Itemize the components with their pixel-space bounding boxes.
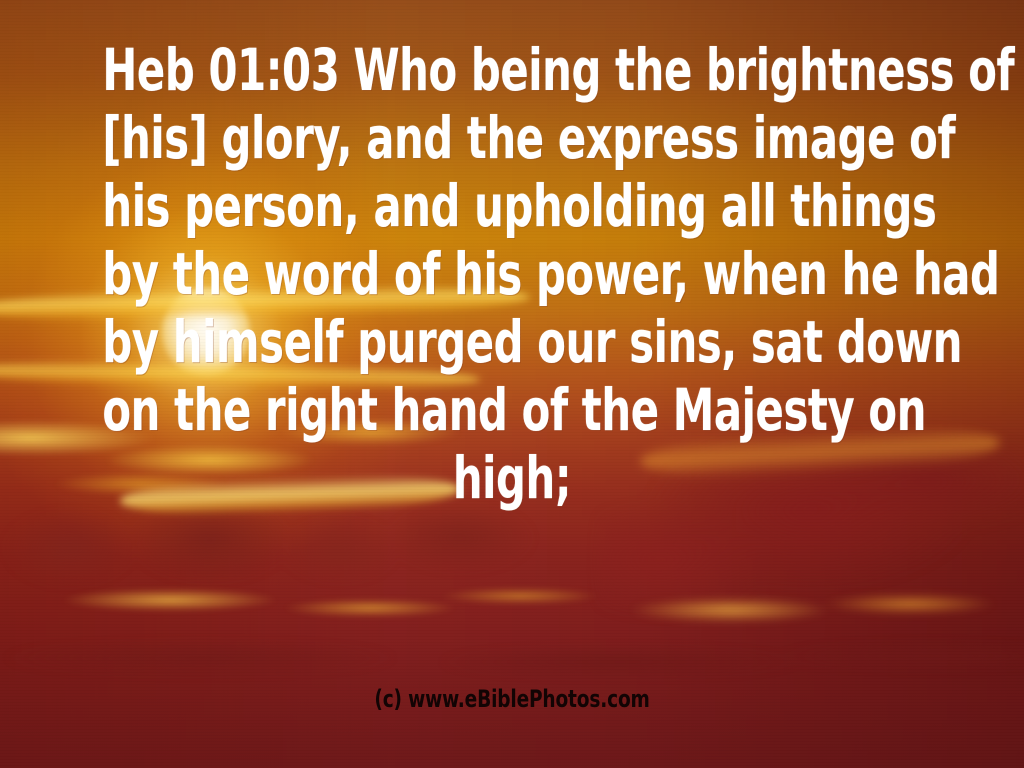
cloud-wisp-middle xyxy=(40,578,600,626)
verse-image-canvas: Heb 01:03 Who being the brightness of [h… xyxy=(0,0,1024,768)
verse-line: [his] glory, and the express image of xyxy=(102,104,921,172)
verse-line: high; xyxy=(102,444,921,512)
verse-line: by himself purged our sins, sat down xyxy=(102,308,921,376)
verse-line: on the right hand of the Majesty on xyxy=(102,376,921,444)
verse-line: by the word of his power, when he had xyxy=(102,240,921,308)
verse-text-block: Heb 01:03 Who being the brightness of [h… xyxy=(0,36,1024,512)
credit-text: (c) www.eBiblePhotos.com xyxy=(374,686,649,712)
verse-line: Heb 01:03 Who being the brightness of xyxy=(102,36,921,104)
cloud-wisp-right xyxy=(620,586,1024,642)
verse-line: his person, and upholding all things xyxy=(102,172,921,240)
credit-line: (c) www.eBiblePhotos.com xyxy=(0,686,1024,712)
